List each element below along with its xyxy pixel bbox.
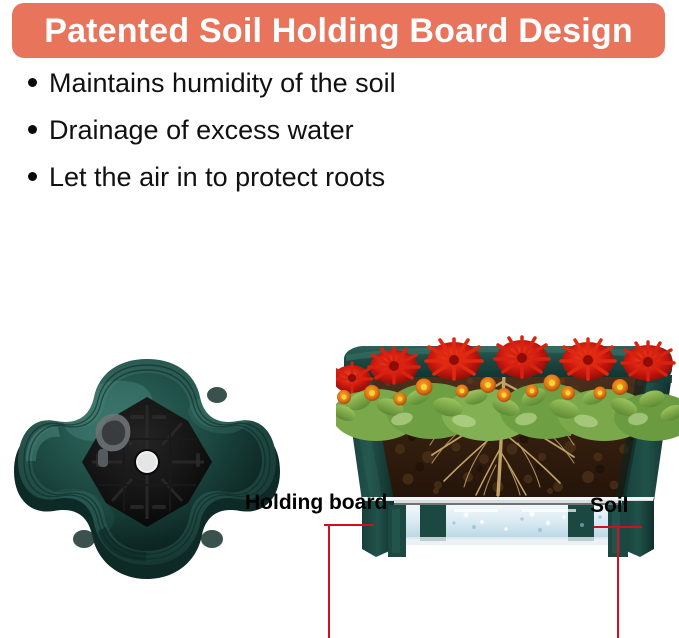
- page-title: Patented Soil Holding Board Design: [44, 14, 633, 48]
- holding-board-graphic: [12, 353, 282, 605]
- callout-label-holding-board: Holding board: [245, 492, 387, 513]
- list-item: Maintains humidity of the soil: [28, 70, 628, 117]
- list-item: Let the air in to protect roots: [28, 164, 628, 211]
- bullet-dot-icon: [28, 125, 37, 134]
- feature-text: Let the air in to protect roots: [49, 164, 385, 191]
- feature-text: Maintains humidity of the soil: [49, 70, 396, 97]
- callout-label-soil: Soil: [590, 495, 629, 516]
- product-diagram: Holding board Soil Water: [0, 215, 679, 638]
- feature-text: Drainage of excess water: [49, 117, 354, 144]
- feature-list: Maintains humidity of the soil Drainage …: [28, 70, 628, 211]
- soil-holding-board-illustration: [12, 353, 282, 605]
- bullet-dot-icon: [28, 172, 37, 181]
- reservoir-bottom-edge: [406, 537, 608, 545]
- list-item: Drainage of excess water: [28, 117, 628, 164]
- header-banner: Patented Soil Holding Board Design: [12, 3, 665, 58]
- leader-bar-holding-board: [324, 524, 374, 526]
- flower-foliage-illustration: [336, 327, 679, 445]
- leader-stem-soil: [617, 526, 619, 638]
- bullet-dot-icon: [28, 78, 37, 87]
- infographic-page: Patented Soil Holding Board Design Maint…: [0, 0, 679, 638]
- leader-stem-holding-board: [328, 524, 330, 638]
- foliage-graphic: [336, 327, 679, 445]
- pot-foot-left-highlight: [392, 509, 400, 553]
